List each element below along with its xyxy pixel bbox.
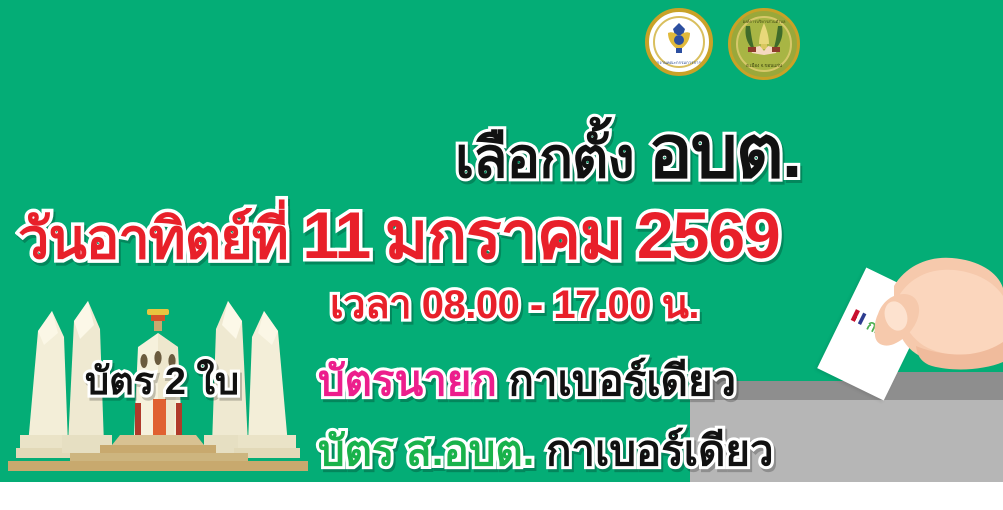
ballot-count-label: บัตร 2 ใบ <box>85 350 239 411</box>
date-month: มกราคม <box>385 198 623 272</box>
ballot-row-council: บัตร ส.อบต. กาเบอร์เดียว <box>318 418 774 484</box>
date-year: 2569 <box>637 198 780 272</box>
date-day-number: 11 <box>302 198 370 272</box>
ect-emblem-glyph <box>664 21 694 55</box>
ballot-row-council-instruction: กาเบอร์เดียว <box>546 427 774 474</box>
ballot-row-council-name: บัตร ส.อบต. <box>318 427 534 474</box>
ect-emblem: สำนักงานคณะกรรมการการเลือกตั้ง <box>645 8 713 76</box>
date-day-prefix: วันอาทิตย์ที่ <box>18 207 288 270</box>
hand-casting-ballot <box>820 250 1003 390</box>
hand-svg <box>820 250 1003 390</box>
ballot-row-mayor-instruction: กาเบอร์เดียว <box>509 357 737 404</box>
ballot-row-mayor: บัตรนายก กาเบอร์เดียว <box>318 348 736 414</box>
sao-emblem-caption-top: องค์การบริหารส่วนตำบล <box>731 18 797 25</box>
sao-emblem-caption-bottom: อ.เมือง จ.ขอนแก่น <box>731 62 797 69</box>
sao-emblem: องค์การบริหารส่วนตำบล อ.เมือง จ.ขอนแก่น <box>728 8 800 80</box>
election-banner: กกต. สำนักงานคณะกรรมการการเลือกตั้ง <box>0 0 1003 510</box>
ballot-row-mayor-name: บัตรนายก <box>318 357 497 404</box>
headline-lead: เลือกตั้ง <box>455 126 634 189</box>
bottom-white-strip <box>0 482 1003 510</box>
time-line: เวลา 08.00 - 17.00 น. <box>330 272 699 336</box>
headline-emphasis: อบต. <box>648 110 800 193</box>
ect-emblem-caption: สำนักงานคณะกรรมการการเลือกตั้ง <box>649 59 709 66</box>
sao-emblem-glyph <box>742 20 786 60</box>
